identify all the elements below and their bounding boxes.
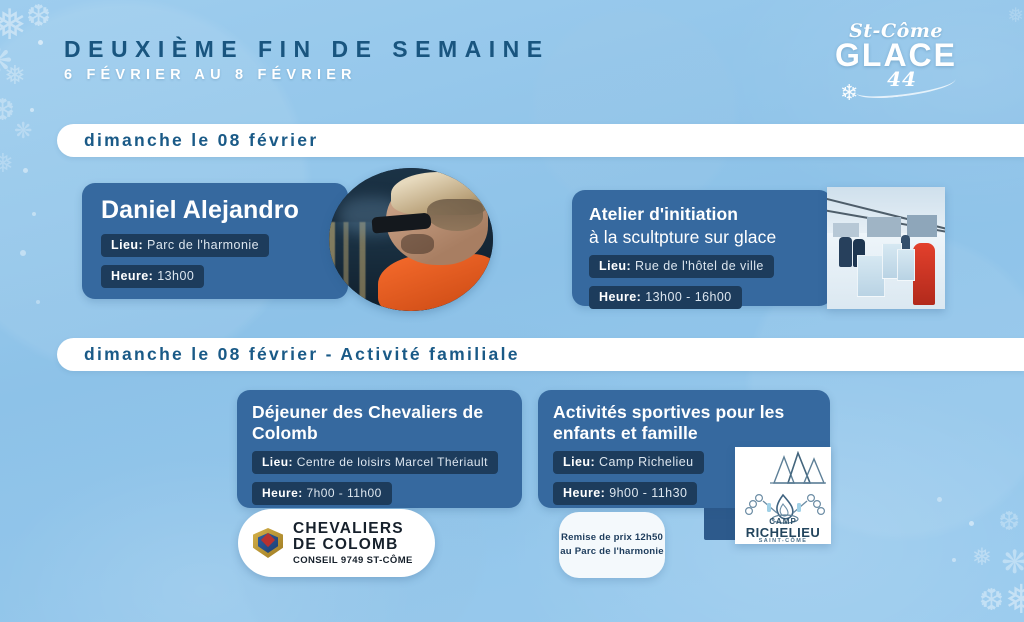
event-time-row: Heure: 13h00 - 16h00 [589,286,832,309]
heure-label: Heure: [111,269,153,283]
photo-building [907,215,937,237]
kofc-text-block: CHEVALIERS DE COLOMB CONSEIL 9749 ST-CÔM… [293,521,413,566]
photo-person-red-coat [913,243,935,305]
time-chip: Heure: 13h00 - 16h00 [589,286,742,309]
event-card-dejeuner-chevaliers[interactable]: Déjeuner des Chevaliers de Colomb Lieu: … [237,390,522,508]
time-chip: Heure: 9h00 - 11h30 [553,482,697,505]
photo-building [867,217,901,237]
kofc-line-2: DE COLOMB [293,537,413,553]
event-title-line-1: Atelier d'initiation [589,204,832,225]
lieu-value: Parc de l'harmonie [147,238,259,252]
photo-building [833,223,859,237]
st-come-glace-logo: St-Côme GLACE 44 ❄ [826,22,966,108]
lieu-label: Lieu: [599,259,631,273]
portrait-beard [401,234,434,254]
page-subtitle: 6 FÉVRIER AU 8 FÉVRIER [64,67,550,83]
event-title: Déjeuner des Chevaliers de Colomb [252,402,522,443]
kofc-emblem-icon [251,526,285,560]
photo-person [839,237,852,267]
prize-note-text: Remise de prix 12h50 au Parc de l'harmon… [559,531,665,559]
lieu-value: Rue de l'hôtel de ville [635,259,764,273]
heure-value: 7h00 - 11h00 [307,486,382,500]
location-chip: Lieu: Parc de l'harmonie [101,234,269,257]
event-time-row: Heure: 13h00 [101,265,348,288]
event-location-row: Lieu: Rue de l'hôtel de ville [589,255,832,278]
heure-label: Heure: [563,486,605,500]
camp-richelieu-logo: CAMP RICHELIEU SAINT-CÔME [735,447,831,544]
section-header-2-label: dimanche le 08 février - Activité famili… [84,344,520,365]
heure-value: 13h00 [157,269,194,283]
richelieu-line-3: SAINT-CÔME [735,538,831,544]
heure-label: Heure: [262,486,303,500]
lieu-label: Lieu: [111,238,143,252]
lieu-label: Lieu: [563,455,595,469]
richelieu-mountain-svg [764,451,826,485]
event-title: Activités sportives pour les enfants et … [553,402,830,443]
location-chip: Lieu: Centre de loisirs Marcel Thériault [252,451,498,474]
ice-sculpture-photo [827,187,945,309]
event-location-row: Lieu: Parc de l'harmonie [101,234,348,257]
photo-ice-block [897,249,915,281]
heure-value: 9h00 - 11h30 [609,486,687,500]
lieu-value: Camp Richelieu [599,455,694,469]
section-header-1-label: dimanche le 08 février [84,130,318,151]
artist-portrait-photo [329,168,493,311]
event-location-row: Lieu: Centre de loisirs Marcel Thériault [252,451,522,474]
time-chip: Heure: 7h00 - 11h00 [252,482,392,505]
section-header-1: dimanche le 08 février [57,124,1024,157]
prize-note-bubble: Remise de prix 12h50 au Parc de l'harmon… [559,512,665,578]
time-chip: Heure: 13h00 [101,265,204,288]
event-title: Daniel Alejandro [101,196,348,226]
heure-value: 13h00 - 16h00 [645,290,731,304]
event-time-row: Heure: 7h00 - 11h00 [252,482,522,505]
kofc-line-1: CHEVALIERS [293,521,413,537]
event-card-daniel-alejandro[interactable]: Daniel Alejandro Lieu: Parc de l'harmoni… [82,183,348,299]
location-chip: Lieu: Camp Richelieu [553,451,704,474]
chevaliers-de-colomb-logo: CHEVALIERS DE COLOMB CONSEIL 9749 ST-CÔM… [238,509,435,577]
lieu-value: Centre de loisirs Marcel Thériault [297,455,488,469]
lieu-label: Lieu: [262,455,293,469]
event-title-line-2: à la scultpture sur glace [589,227,832,248]
page-title: DEUXIÈME FIN DE SEMAINE [64,36,550,63]
heure-label: Heure: [599,290,641,304]
logo-snowflake-icon: ❄ [840,80,858,106]
portrait-hair-fade [427,199,483,230]
location-chip: Lieu: Rue de l'hôtel de ville [589,255,774,278]
kofc-line-3: CONSEIL 9749 ST-CÔME [293,556,413,566]
page-header: DEUXIÈME FIN DE SEMAINE 6 FÉVRIER AU 8 F… [64,36,550,83]
photo-ice-block [857,255,885,297]
event-card-atelier-initiation[interactable]: Atelier d'initiation à la scultpture sur… [572,190,832,306]
section-header-2: dimanche le 08 février - Activité famili… [57,338,1024,371]
